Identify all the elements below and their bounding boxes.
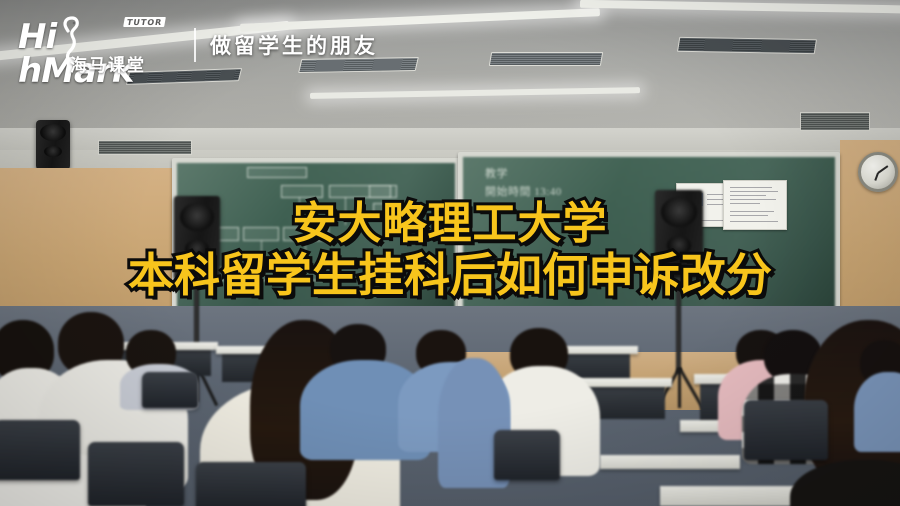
tripod-leg xyxy=(678,368,681,408)
student-chair xyxy=(196,462,306,506)
student-desk xyxy=(660,486,810,506)
brand-logo: HihMark TUTOR 海马课堂 做留学生的朋友 xyxy=(18,16,378,74)
student-chair xyxy=(0,420,80,480)
logo-divider xyxy=(194,28,196,62)
student-desk xyxy=(600,455,740,469)
pa-speaker xyxy=(36,120,70,170)
chalk-diagram-box xyxy=(369,185,397,198)
logo-mark: HihMark TUTOR 海马课堂 xyxy=(18,16,180,74)
brand-tagline: 做留学生的朋友 xyxy=(210,30,378,60)
chalk-diagram-box xyxy=(329,185,391,198)
speaker-cone xyxy=(40,124,66,141)
clock-hand-hour xyxy=(874,173,879,181)
poster-text-line xyxy=(730,199,776,200)
chalk-diagram-box xyxy=(281,185,323,198)
title-line-1: 安大略理工大学 xyxy=(0,202,900,246)
student-chair xyxy=(494,430,560,480)
student-torso xyxy=(790,460,900,506)
student-chair xyxy=(142,372,198,408)
air-vent xyxy=(98,140,192,155)
chalk-diagram-box xyxy=(247,167,307,178)
student-chair xyxy=(88,442,184,506)
poster-text-line xyxy=(730,187,772,188)
tutor-badge: TUTOR xyxy=(123,17,166,27)
student xyxy=(860,340,900,440)
logo-chinese-name: 海马课堂 xyxy=(70,51,146,76)
chalk-note-heading: 教学 xyxy=(485,165,508,181)
title-line-2: 本科留学生挂科后如何申诉改分 xyxy=(0,252,900,298)
student-chair xyxy=(744,400,828,460)
wall-clock-icon xyxy=(858,152,898,192)
chalk-note-time: 開始時間 13:40 xyxy=(485,183,562,199)
speaker-cone xyxy=(44,146,62,157)
poster-text-line xyxy=(730,191,778,192)
thumbnail-canvas: 表 教学 開始時間 13:40 xyxy=(0,0,900,506)
student-torso xyxy=(854,372,900,452)
air-vent xyxy=(800,112,870,131)
air-vent xyxy=(489,52,603,66)
air-vent xyxy=(677,37,817,54)
poster-text-line xyxy=(730,195,766,196)
title-overlay: 安大略理工大学 本科留学生挂科后如何申诉改分 xyxy=(0,202,900,298)
